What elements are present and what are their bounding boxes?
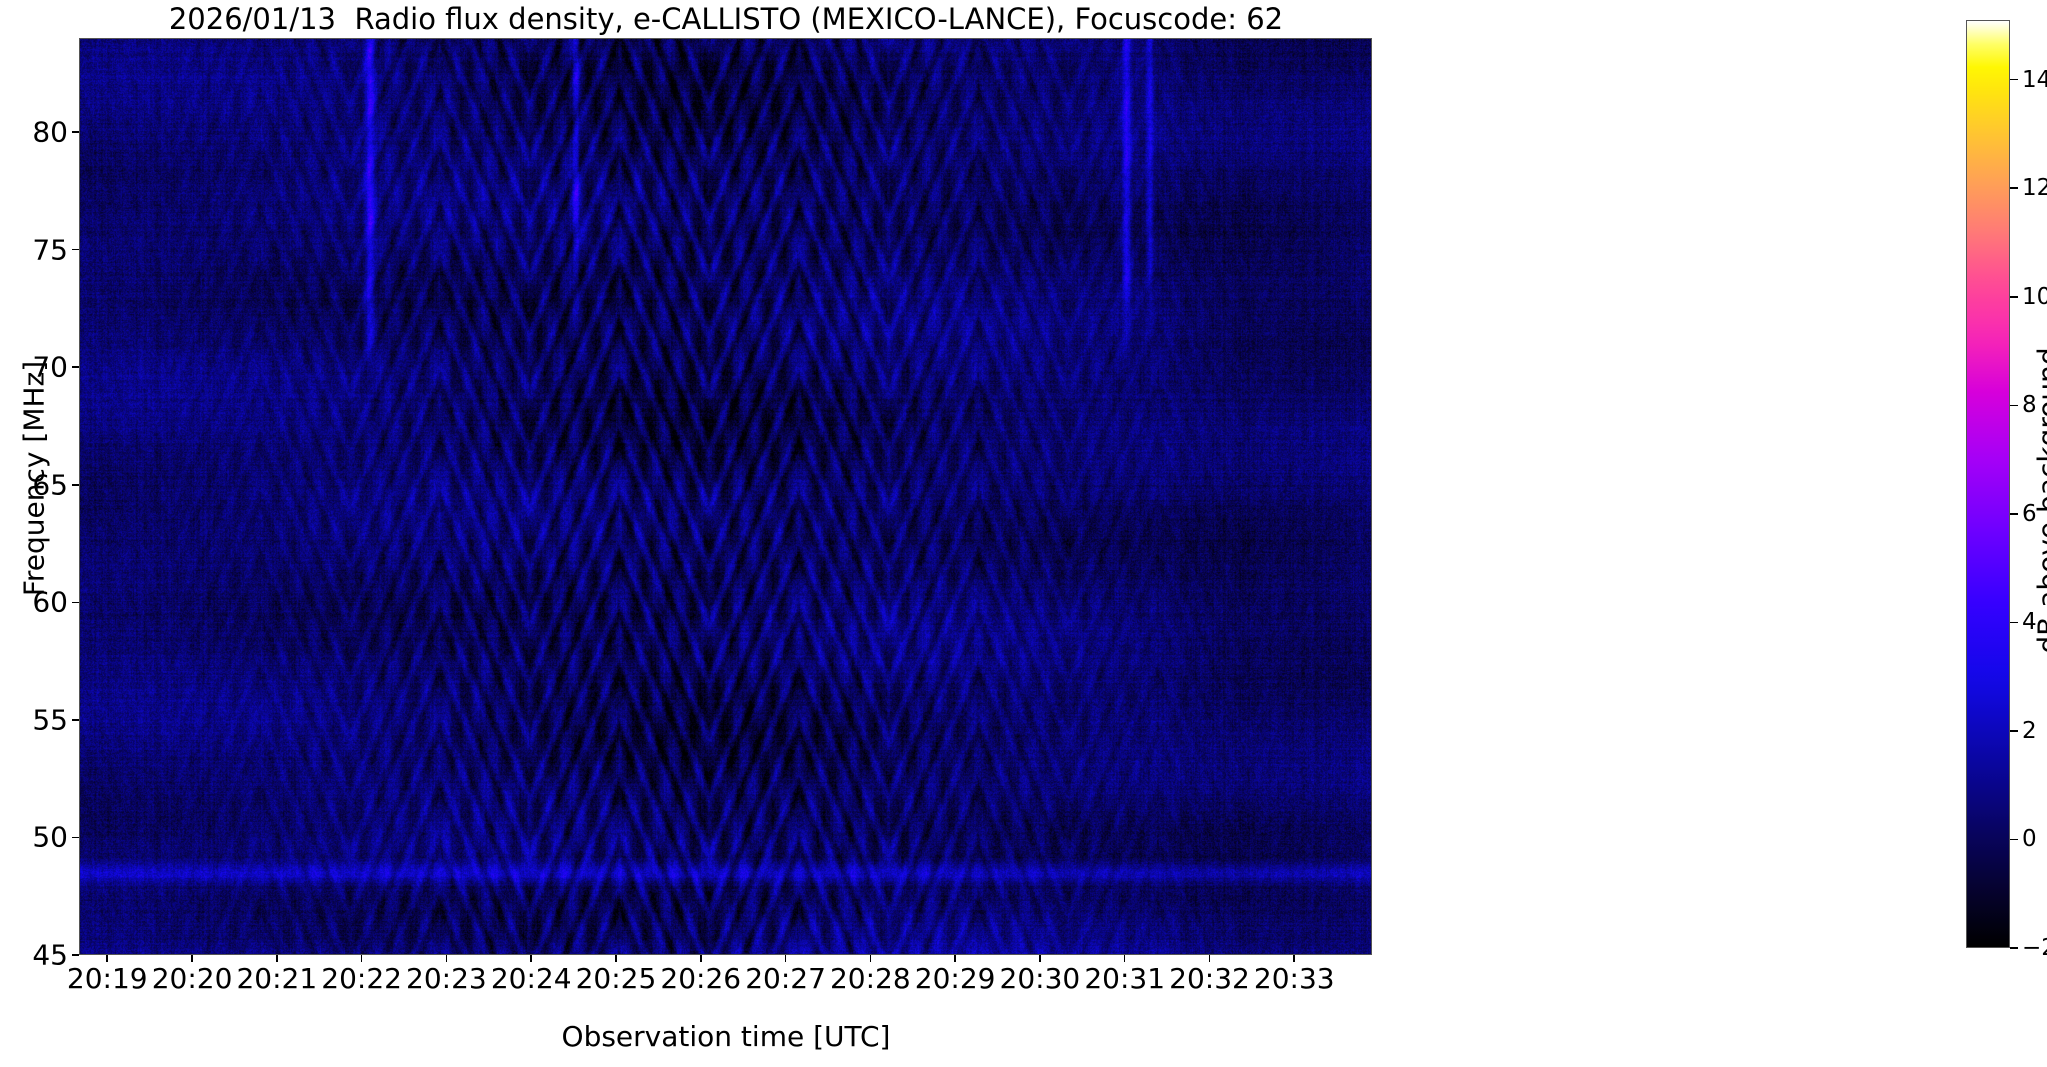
x-tick-mark (1039, 955, 1041, 962)
x-tick-mark (530, 955, 532, 962)
colorbar-tick-label: 14 (2022, 67, 2047, 93)
colorbar-tick-label: −2 (2022, 935, 2047, 961)
colorbar-tick-mark (2010, 730, 2018, 732)
y-tick-mark (72, 249, 79, 251)
y-tick-label: 65 (0, 468, 68, 501)
x-tick-mark (700, 955, 702, 962)
colorbar-tick-mark (2010, 839, 2018, 841)
x-tick-mark (446, 955, 448, 962)
y-tick-mark (72, 484, 79, 486)
x-tick-label: 20:33 (1214, 962, 1374, 995)
colorbar-tick-label: 12 (2022, 175, 2047, 201)
x-tick-mark (1293, 955, 1295, 962)
x-tick-mark (276, 955, 278, 962)
x-tick-mark (1209, 955, 1211, 962)
y-tick-mark (72, 602, 79, 604)
y-tick-mark (72, 366, 79, 368)
x-axis-label: Observation time [UTC] (79, 1020, 1373, 1053)
colorbar-tick-mark (2010, 405, 2018, 407)
y-tick-mark (72, 837, 79, 839)
spectrogram-figure: 2026/01/13 Radio flux density, e-CALLIST… (0, 0, 2047, 1067)
page-title: 2026/01/13 Radio flux density, e-CALLIST… (79, 2, 1373, 36)
x-tick-mark (615, 955, 617, 962)
colorbar-tick-mark (2010, 947, 2018, 949)
y-tick-mark (72, 954, 79, 956)
y-tick-label: 50 (0, 821, 68, 854)
spectrogram-plot-area[interactable] (79, 38, 1372, 955)
y-tick-mark (72, 131, 79, 133)
colorbar-tick-mark (2010, 513, 2018, 515)
spectrogram-image (80, 39, 1372, 955)
y-tick-label: 75 (0, 233, 68, 266)
y-tick-label: 55 (0, 703, 68, 736)
y-tick-mark (72, 719, 79, 721)
x-tick-mark (361, 955, 363, 962)
x-tick-mark (785, 955, 787, 962)
colorbar-tick-mark (2010, 622, 2018, 624)
x-tick-mark (1124, 955, 1126, 962)
colorbar[interactable] (1966, 20, 2010, 948)
x-tick-mark (870, 955, 872, 962)
colorbar-label: dB above background (2032, 201, 2047, 801)
colorbar-tick-mark (2010, 296, 2018, 298)
x-tick-mark (191, 955, 193, 962)
y-tick-label: 60 (0, 586, 68, 619)
y-tick-label: 70 (0, 351, 68, 384)
colorbar-tick-mark (2010, 187, 2018, 189)
colorbar-tick-mark (2010, 79, 2018, 81)
colorbar-gradient (1967, 21, 2009, 947)
x-tick-mark (954, 955, 956, 962)
y-tick-label: 80 (0, 116, 68, 149)
x-tick-mark (106, 955, 108, 962)
colorbar-tick-label: 0 (2022, 826, 2037, 852)
